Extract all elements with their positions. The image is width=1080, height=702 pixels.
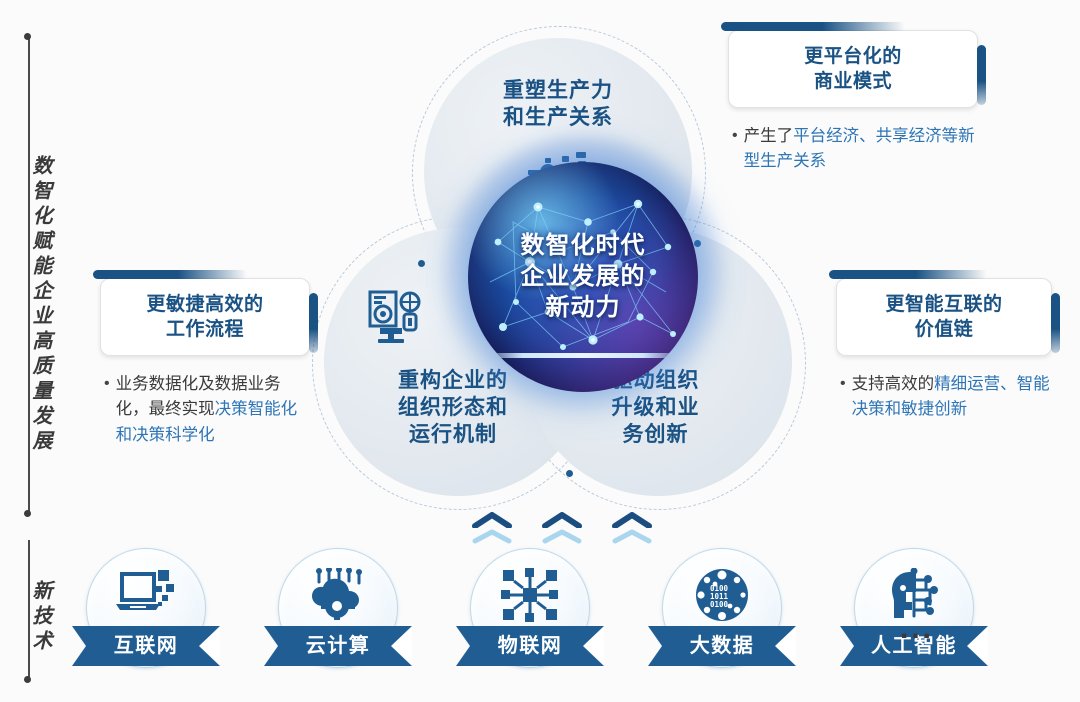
callout-title: 更平台化的 商业模式 [739, 45, 967, 94]
callout-card: 更智能互联的 价值链 [836, 278, 1052, 356]
sphere-base-line [476, 353, 690, 358]
tech-ribbon: 物联网 [456, 626, 604, 666]
tech-item-iot[interactable]: 物联网 [462, 548, 598, 680]
tech-item-bigdata[interactable]: 0100 1011 0100 大数据 [654, 548, 790, 680]
laptop-network-icon [78, 568, 214, 625]
callout-title: 更敏捷高效的 工作流程 [111, 293, 299, 342]
tech-label: 大数据 [648, 626, 796, 666]
card-accent-top [829, 270, 987, 279]
connector-dot-left [418, 260, 425, 267]
body-lead: 支持高效的 [852, 375, 935, 393]
callout-platform[interactable]: 更平台化的 商业模式 • 产生了平台经济、共享经济等新型生产关系 [728, 30, 978, 175]
ellipsis-more: ... [900, 612, 934, 646]
big-data-binary-icon: 0100 1011 0100 [654, 568, 790, 627]
trefoil-diagram: 重塑生产力 和生产关系 重构企业的 组织形态和 运行机制 [318, 38, 798, 518]
chevron-up-light-icon [472, 528, 512, 544]
tech-label: 互联网 [72, 626, 220, 666]
tech-label: 物联网 [456, 626, 604, 666]
cloud-gear-icon [270, 568, 406, 625]
chevron-up-light-icon [542, 528, 582, 544]
tech-ribbon: 大数据 [648, 626, 796, 666]
bullet-icon: • [840, 372, 846, 422]
callout-body-text: 支持高效的精细运营、智能决策和敏捷创新 [852, 372, 1052, 422]
digital-sphere-network-icon: 数智化时代 企业发展的 新动力 [468, 162, 698, 392]
central-sphere[interactable]: 数智化时代 企业发展的 新动力 [468, 162, 698, 392]
card-accent-right [1051, 293, 1060, 353]
callout-title: 更智能互联的 价值链 [847, 293, 1041, 342]
tech-item-internet[interactable]: 互联网 [78, 548, 214, 680]
center-title: 数智化时代 企业发展的 新动力 [468, 230, 698, 324]
axis-dot-top [24, 33, 31, 40]
chevron-up-dark-icon [472, 512, 512, 528]
card-accent-top [721, 22, 905, 31]
body-lead: 产生了 [744, 127, 794, 145]
callout-body: • 产生了平台经济、共享经济等新型生产关系 [728, 124, 978, 174]
callout-card: 更敏捷高效的 工作流程 [100, 278, 310, 356]
tech-ribbon: 互联网 [72, 626, 220, 666]
tech-label: 云计算 [264, 626, 412, 666]
callout-body-text: 产生了平台经济、共享经济等新型生产关系 [744, 124, 978, 174]
tech-ribbon: 云计算 [264, 626, 412, 666]
callout-workflow[interactable]: 更敏捷高效的 工作流程 • 业务数据化及数据业务化，最终实现决策智能化和决策科学… [100, 278, 310, 448]
callout-value-chain[interactable]: 更智能互联的 价值链 • 支持高效的精细运营、智能决策和敏捷创新 [836, 278, 1052, 423]
chevron-up-dark-icon [542, 512, 582, 528]
axis-dot-bottom [24, 676, 31, 683]
card-accent-top [93, 270, 247, 279]
bullet-icon: • [732, 124, 738, 174]
callout-card: 更平台化的 商业模式 [728, 30, 978, 108]
chevron-up-light-icon [612, 528, 652, 544]
iot-nodes-icon [462, 568, 598, 627]
tech-item-cloud[interactable]: 云计算 [270, 548, 406, 680]
bullet-icon: • [104, 372, 110, 447]
card-accent-right [309, 293, 318, 353]
infographic-canvas: 数智化赋能企业高质量发展 新技术 重塑生产力 和生产关系 [0, 0, 1080, 702]
vertical-label-main: 数智化赋能企业高质量发展 [6, 140, 50, 470]
card-accent-right [977, 45, 986, 105]
monitor-analysis-icon [366, 288, 428, 349]
svg-text:0100: 0100 [710, 600, 729, 609]
axis-dot-mid [24, 510, 31, 517]
petal-label-top: 重塑生产力 和生产关系 [438, 78, 678, 132]
technology-row: 互联网 [78, 548, 1018, 680]
vertical-label-technology: 新技术 [6, 570, 50, 665]
callout-body-text: 业务数据化及数据业务化，最终实现决策智能化和决策科学化 [116, 372, 310, 447]
chevron-up-dark-icon [612, 512, 652, 528]
connector-dot-bottom [566, 470, 573, 477]
callout-body: • 支持高效的精细运营、智能决策和敏捷创新 [836, 372, 1052, 422]
callout-body: • 业务数据化及数据业务化，最终实现决策智能化和决策科学化 [100, 372, 310, 447]
